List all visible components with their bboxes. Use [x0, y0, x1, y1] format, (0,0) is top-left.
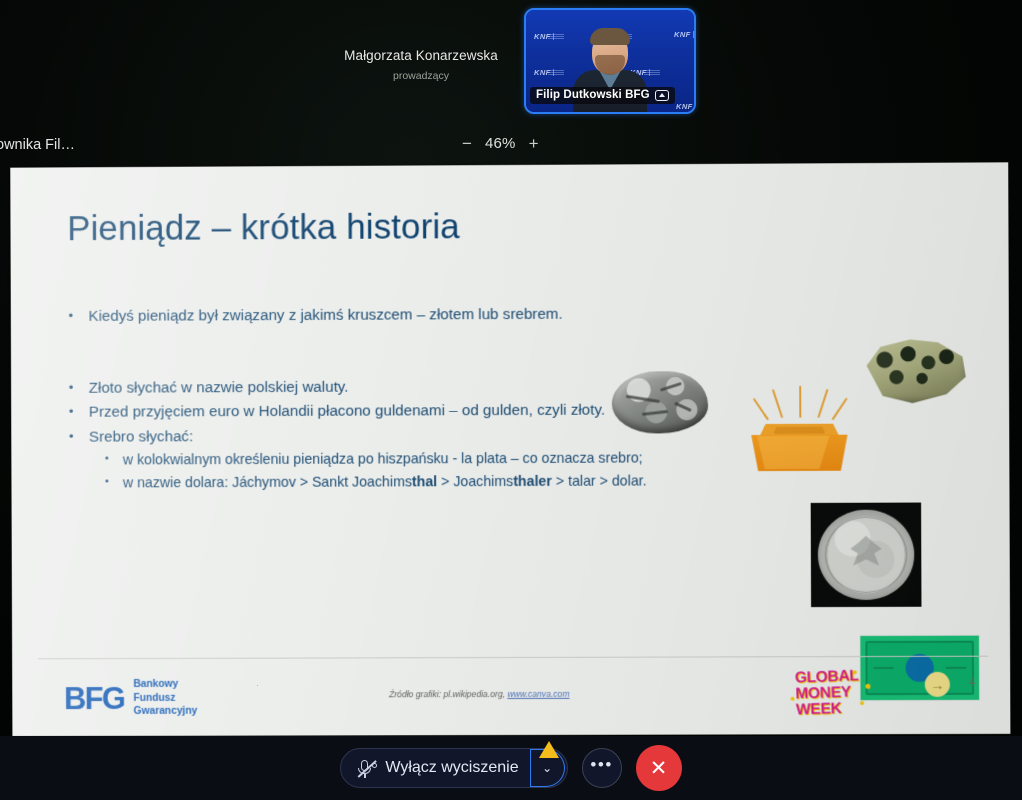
- bullet-marker: •: [105, 450, 123, 469]
- zoom-out-button[interactable]: −: [462, 135, 472, 152]
- canva-link[interactable]: www.canva.com: [507, 689, 569, 699]
- bullet-item: • Złoto słychać w nazwie polskiej waluty…: [69, 373, 768, 399]
- teams-meeting-screen: Małgorzata Konarzewska prowadzący KNF KN…: [0, 0, 1022, 800]
- bullet-item: • Kiedyś pieniądz był związany z jakimś …: [68, 302, 767, 329]
- footer-divider: [38, 656, 988, 660]
- bullet-marker: •: [69, 376, 89, 399]
- bullet-text: Srebro słychać:: [89, 423, 768, 449]
- dolar-text-post: > talar > dolar.: [552, 474, 647, 490]
- banknote-line: [874, 667, 894, 669]
- banknote-line: [946, 667, 966, 669]
- dolar-text-mid: > Joachims: [437, 474, 513, 490]
- zoom-in-button[interactable]: +: [529, 135, 539, 152]
- silver-coin-photo: [811, 503, 922, 608]
- screen-share-icon: [655, 90, 669, 101]
- shine-ray: [817, 389, 828, 418]
- slide-page-number: 4: [969, 677, 975, 689]
- bullet-text: Złoto słychać w nazwie polskiej waluty.: [89, 373, 768, 399]
- green-mineral-photo: [861, 335, 968, 408]
- video-tile-name-label: Filip Dutkowski BFG: [536, 89, 650, 101]
- warning-triangle-icon: [539, 741, 559, 758]
- audio-options-dropdown[interactable]: ⌄: [531, 749, 565, 787]
- meeting-control-bar: Wyłącz wyciszenie ⌄ ••• ✕: [0, 736, 1022, 800]
- video-tile-name-bar: Filip Dutkowski BFG: [530, 87, 675, 104]
- knf-subtext-icon: [548, 33, 564, 39]
- banknote-inner: [865, 641, 974, 695]
- sub-bullet-text-dolar: w nazwie dolara: Jáchymov > Sankt Joachi…: [123, 470, 769, 494]
- dolar-bold-thal: thal: [412, 475, 437, 491]
- participant-name-label: Małgorzata Konarzewska: [341, 48, 501, 63]
- coin-face: [818, 510, 915, 600]
- bfg-word-1: Bankowy: [133, 678, 197, 692]
- chevron-down-icon: ⌄: [542, 761, 552, 775]
- slide-title: Pieniądz – krótka historia: [67, 207, 460, 249]
- figure-hair: [590, 28, 630, 45]
- sub-bullet-item: • w nazwie dolara: Jáchymov > Sankt Joac…: [105, 470, 769, 494]
- shine-ray: [799, 386, 801, 418]
- bullet-marker: •: [69, 401, 89, 424]
- bullet-text: Przed przyjęciem euro w Holandii płacono…: [89, 398, 768, 424]
- bullet-item: • Srebro słychać:: [69, 423, 768, 449]
- knf-logo-icon: KNF: [676, 102, 693, 111]
- more-options-button[interactable]: •••: [582, 748, 622, 788]
- bfg-logo-mark: BFG: [64, 683, 124, 714]
- shine-ray: [832, 397, 848, 420]
- bullet-item: • Przed przyjęciem euro w Holandii płaco…: [69, 398, 768, 424]
- shared-content-title: ownika Fil…: [0, 137, 75, 153]
- unmute-button[interactable]: Wyłącz wyciszenie ⌄: [340, 748, 567, 788]
- banknote-illustration: [860, 636, 979, 700]
- bullet-spacer: [69, 326, 768, 376]
- leave-meeting-button[interactable]: ✕: [636, 745, 682, 791]
- bullet-marker: •: [69, 425, 89, 448]
- shared-slide[interactable]: Pieniądz – krótka historia: [10, 162, 1010, 736]
- dolar-text-pre: w nazwie dolara: Jáchymov > Sankt Joachi…: [123, 475, 412, 492]
- zoom-controls: − 46% +: [462, 135, 539, 152]
- sub-bullet-item: • w kolokwialnym określeniu pieniądza po…: [105, 447, 769, 472]
- bfg-word-2: Fundusz: [133, 691, 197, 705]
- source-credit-text: Źródło grafiki: pl.wikipedia.org,: [389, 689, 505, 699]
- slide-body: • Kiedyś pieniądz był związany z jakimś …: [68, 302, 768, 496]
- gold-bar-groove: [773, 427, 825, 434]
- next-slide-arrow-icon[interactable]: →: [925, 672, 950, 697]
- video-stage: Małgorzata Konarzewska prowadzący KNF KN…: [0, 0, 1022, 128]
- dropdown-divider: [530, 749, 532, 787]
- video-tile-filip-dutkowski[interactable]: KNF KNF KNF KNF KNF KNF Fil: [524, 8, 696, 114]
- gmw-sparkle: [791, 697, 795, 701]
- participant-role-label: prowadzący: [341, 70, 501, 82]
- microphone-muted-icon: [357, 759, 376, 778]
- bullet-text: Kiedyś pieniądz był związany z jakimś kr…: [88, 302, 767, 329]
- bullet-marker: •: [105, 473, 123, 492]
- bfg-word-3: Gwarancyjny: [133, 705, 197, 719]
- bfg-logo-words: Bankowy Fundusz Gwarancyjny: [133, 678, 197, 719]
- knf-logo-icon: KNF: [674, 30, 691, 39]
- global-money-week-logo: GLOBAL MONEY WEEK: [795, 668, 875, 715]
- dolar-bold-thaler: thaler: [513, 474, 552, 490]
- sub-bullet-text: w kolokwialnym określeniu pieniądza po h…: [123, 447, 769, 471]
- unmute-button-label: Wyłącz wyciszenie: [385, 759, 518, 777]
- zoom-level-label: 46%: [485, 135, 516, 152]
- share-control-bar: ownika Fil… − 46% +: [0, 131, 1022, 165]
- knf-subtext-icon: [548, 69, 564, 75]
- bullet-marker: •: [68, 305, 88, 328]
- bfg-logo: BFG Bankowy Fundusz Gwarancyjny: [64, 678, 197, 719]
- source-credit: Źródło grafiki: pl.wikipedia.org, www.ca…: [389, 689, 570, 699]
- shine-ray: [772, 389, 783, 418]
